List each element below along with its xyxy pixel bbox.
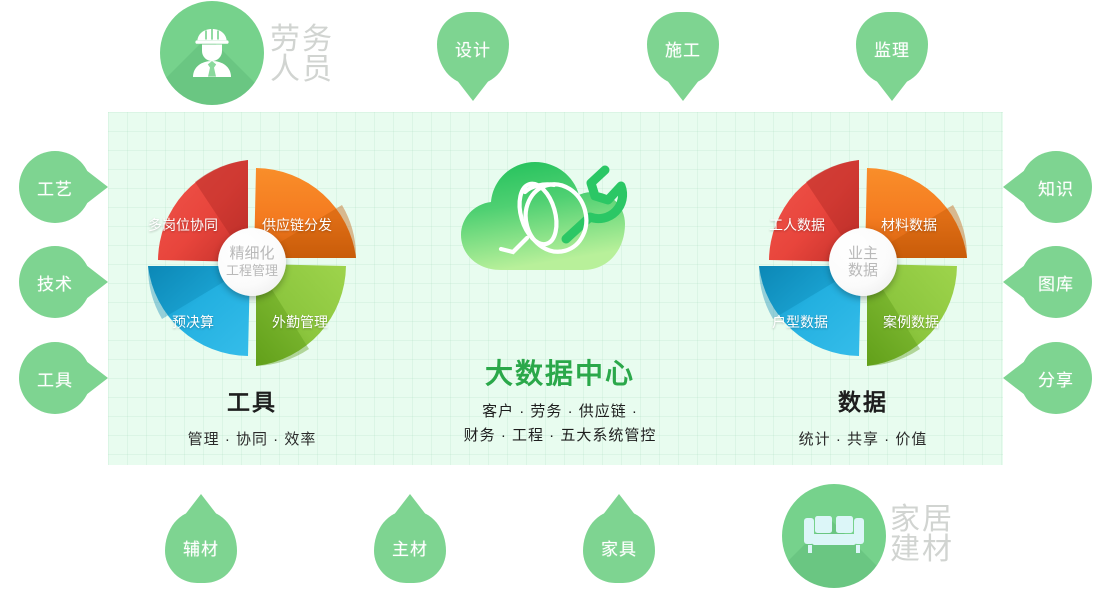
right-pinwheel: 工人数据 材料数据 案例数据 户型数据 业主 数据 <box>743 142 983 382</box>
right-caption-subtitle: 统计 · 共享 · 价值 <box>743 428 983 449</box>
pin-auxiliary-material[interactable]: 辅材 <box>165 511 237 583</box>
pin-technology[interactable]: 技术 <box>19 246 91 318</box>
left-caption-title: 工具 <box>132 383 372 417</box>
blade-label-green: 案例数据 <box>883 312 939 332</box>
pin-tools[interactable]: 工具 <box>19 342 91 414</box>
blade-label-red: 多岗位协同 <box>148 215 218 235</box>
badge-labor-personnel[interactable] <box>160 1 264 105</box>
pin-technology-label: 技术 <box>37 270 73 295</box>
left-hub-line2: 工程管理 <box>226 262 278 279</box>
center-text-block: 大数据中心 客户 · 劳务 · 供应链 · 财务 · 工程 · 五大系统管控 <box>400 352 720 448</box>
badge-home-line2: 建材 <box>890 535 954 565</box>
badge-home-material-text: 家居 建材 <box>890 505 954 565</box>
badge-labor-line1: 劳务 <box>270 25 334 55</box>
pin-knowledge-label: 知识 <box>1038 175 1074 200</box>
blade-label-blue: 预决算 <box>172 312 214 332</box>
right-hub-line2: 数据 <box>848 262 878 279</box>
pin-share-label: 分享 <box>1038 366 1074 391</box>
badge-labor-line2: 人员 <box>270 55 334 85</box>
center-line-2: 财务 · 工程 · 五大系统管控 <box>400 424 720 448</box>
pin-supervision[interactable]: 监理 <box>856 12 928 84</box>
sofa-icon <box>801 510 867 562</box>
left-caption: 工具 管理 · 协同 · 效率 <box>132 383 372 449</box>
pin-main-material-label: 主材 <box>392 535 428 560</box>
pin-furniture-label: 家具 <box>601 535 637 560</box>
pin-auxiliary-material-label: 辅材 <box>183 535 219 560</box>
pin-construction[interactable]: 施工 <box>647 12 719 84</box>
right-wheel-hub[interactable]: 业主 数据 <box>829 228 897 296</box>
cloud-block <box>455 148 645 283</box>
pin-furniture[interactable]: 家具 <box>583 511 655 583</box>
pin-share[interactable]: 分享 <box>1020 342 1092 414</box>
center-title: 大数据中心 <box>400 352 720 392</box>
pin-craft[interactable]: 工艺 <box>19 151 91 223</box>
badge-home-line1: 家居 <box>890 505 954 535</box>
pin-construction-label: 施工 <box>665 36 701 61</box>
construction-worker-icon <box>179 20 245 86</box>
pin-design[interactable]: 设计 <box>437 12 509 84</box>
pin-main-material[interactable]: 主材 <box>374 511 446 583</box>
blade-label-orange: 材料数据 <box>881 215 937 235</box>
right-caption: 数据 统计 · 共享 · 价值 <box>743 383 983 449</box>
right-hub-line1: 业主 <box>848 245 878 262</box>
pin-knowledge[interactable]: 知识 <box>1020 151 1092 223</box>
badge-labor-personnel-text: 劳务 人员 <box>270 25 334 85</box>
pin-tools-label: 工具 <box>37 366 73 391</box>
right-caption-title: 数据 <box>743 383 983 417</box>
center-line-1: 客户 · 劳务 · 供应链 · <box>400 400 720 424</box>
cloud-database-wrench-icon <box>455 148 645 283</box>
left-wheel-hub[interactable]: 精细化 工程管理 <box>218 228 286 296</box>
left-hub-line1: 精细化 <box>229 245 274 262</box>
blade-label-green: 外勤管理 <box>272 312 328 332</box>
pin-design-label: 设计 <box>455 36 491 61</box>
left-caption-subtitle: 管理 · 协同 · 效率 <box>132 428 372 449</box>
pin-supervision-label: 监理 <box>874 36 910 61</box>
left-pinwheel: 多岗位协同 供应链分发 外勤管理 预决算 精细化 工程管理 <box>132 142 372 382</box>
blade-label-orange: 供应链分发 <box>262 215 332 235</box>
badge-home-building-material[interactable] <box>782 484 886 588</box>
blade-label-red: 工人数据 <box>769 215 825 235</box>
pin-gallery[interactable]: 图库 <box>1020 246 1092 318</box>
pin-craft-label: 工艺 <box>37 175 73 200</box>
pin-gallery-label: 图库 <box>1038 270 1074 295</box>
infographic-canvas: 劳务 人员 设计 施工 监理 工艺 技术 工具 知识 图库 分享 辅材 主材 家… <box>0 0 1108 596</box>
blade-label-blue: 户型数据 <box>772 312 828 332</box>
